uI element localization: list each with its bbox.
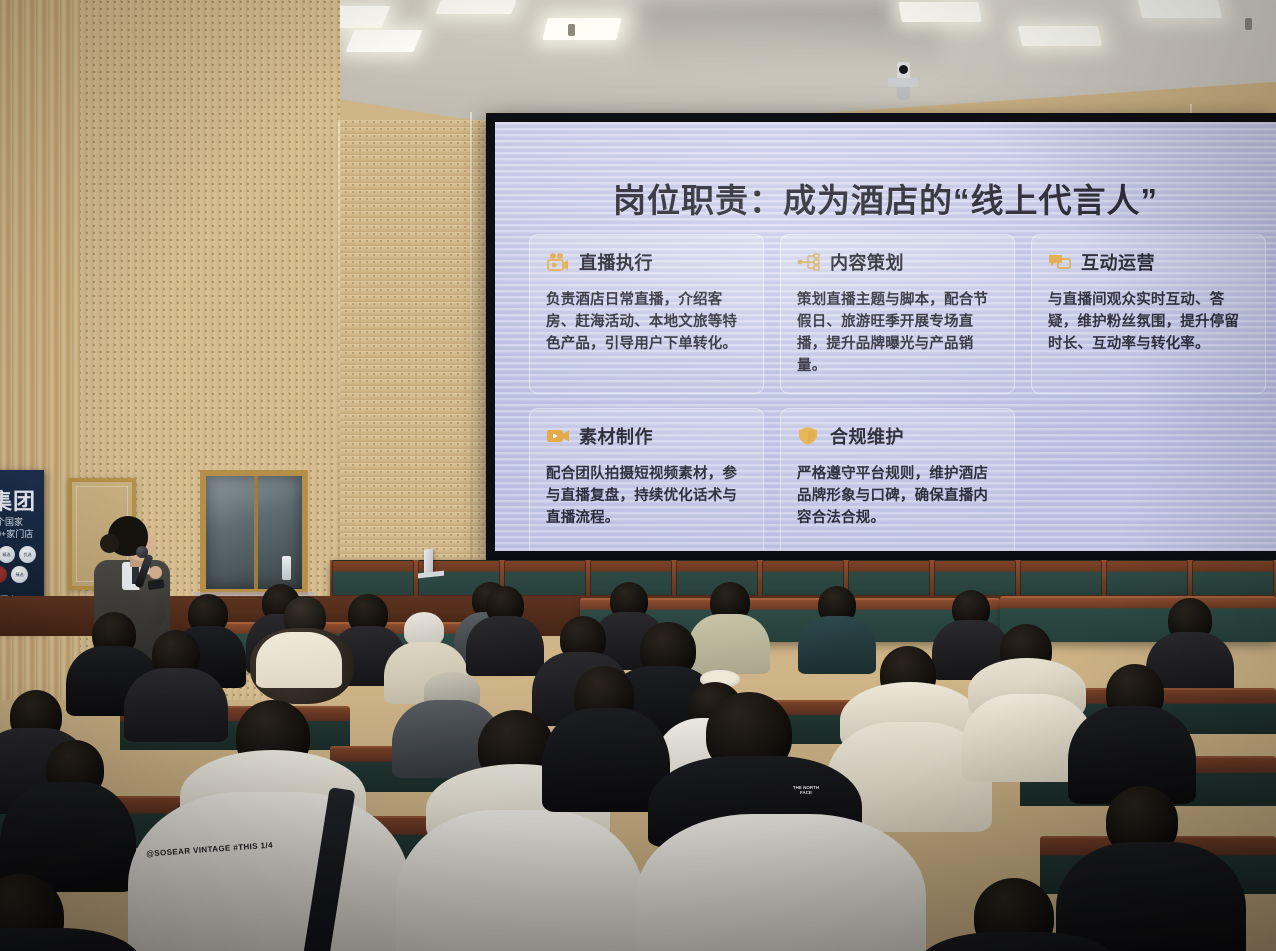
card-body: 配合团队拍摄短视频素材，参与直播复盘，持续优化话术与直播流程。 <box>546 463 747 529</box>
card-body: 负责酒店日常直播，介绍客房、赶海活动、本地文旅等特色产品，引导用户下单转化。 <box>546 289 747 355</box>
presenter-hair-bun <box>100 534 119 553</box>
audience-body <box>636 814 926 951</box>
card-title: 合规维护 <box>830 423 904 449</box>
card-title: 直播执行 <box>579 249 653 275</box>
slide-card: 互动运营 与直播间观众实时互动、答疑，维护粉丝氛围，提升停留时长、互动率与转化率… <box>1031 234 1266 394</box>
sitemap-icon <box>797 252 821 272</box>
banner-subtitle-line1: 20个国家 <box>0 516 23 528</box>
shield-icon <box>797 426 821 446</box>
audience-body <box>124 668 228 742</box>
projection-screen: 岗位职责：成为酒店的“线上代言人” <box>486 113 1276 560</box>
ceiling-light <box>542 18 621 40</box>
card-title: 内容策划 <box>830 249 904 275</box>
ceiling-light <box>898 2 982 22</box>
card-header: 直播执行 <box>546 249 747 275</box>
ceiling-light <box>1138 0 1222 18</box>
audience-body <box>466 616 544 676</box>
slide-card: 合规维护 严格遵守平台规则，维护酒店品牌形象与口碑，确保直播内容合法合规。 <box>780 408 1015 551</box>
audience-body <box>128 792 410 951</box>
microphone-head-icon <box>136 546 148 558</box>
card-body: 策划直播主题与脚本，配合节假日、旅游旺季开展专场直播，提升品牌曝光与产品销量。 <box>797 289 998 377</box>
audience-body <box>1056 842 1246 951</box>
slide-card: 内容策划 策划直播主题与脚本，配合节假日、旅游旺季开展专场直播，提升品牌曝光与产… <box>780 234 1015 394</box>
wall-seam <box>470 112 472 582</box>
video-play-icon <box>546 426 570 446</box>
audience-body <box>396 810 644 951</box>
ceiling-shadow <box>640 0 940 70</box>
card-body: 严格遵守平台规则，维护酒店品牌形象与口碑，确保直播内容合法合规。 <box>797 463 998 529</box>
card-title: 素材制作 <box>579 423 653 449</box>
slide-card: 直播执行 负责酒店日常直播，介绍客房、赶海活动、本地文旅等特色产品，引导用户下单… <box>529 234 764 394</box>
ceiling-light <box>346 30 423 52</box>
audience-body <box>798 616 876 674</box>
presentation-slide: 岗位职责：成为酒店的“线上代言人” <box>495 122 1276 551</box>
sprinkler-head <box>1245 18 1252 30</box>
audience-area: @SOSEAR VINTAGE #THIS 1/4 THE NORTH FACE <box>0 560 1276 951</box>
chat-bubbles-icon <box>1048 252 1072 272</box>
ceiling-light <box>1018 26 1102 46</box>
slide-card-grid: 直播执行 负责酒店日常直播，介绍客房、赶海活动、本地文旅等特色产品，引导用户下单… <box>529 234 1266 551</box>
banner-subtitle-line2: 000+家门店 <box>0 528 33 540</box>
audience-body <box>0 928 140 951</box>
video-camera-icon <box>546 252 570 272</box>
north-face-logo-patch: THE NORTH FACE <box>792 784 820 796</box>
sprinkler-head <box>568 24 575 36</box>
ceiling-light <box>435 0 516 14</box>
slide-card-empty <box>1031 408 1266 551</box>
card-body: 与直播间观众实时互动、答疑，维护粉丝氛围，提升停留时长、互动率与转化率。 <box>1048 289 1249 355</box>
slide-title: 岗位职责：成为酒店的“线上代言人” <box>495 174 1276 222</box>
audience-body <box>688 614 770 674</box>
brand-patch-line2: FACE <box>800 790 812 795</box>
audience-helmet <box>404 612 444 646</box>
card-header: 内容策划 <box>797 249 998 275</box>
banner-title: 集团 <box>0 484 36 516</box>
slide-card: 素材制作 配合团队拍摄短视频素材，参与直播复盘，持续优化话术与直播流程。 <box>529 408 764 551</box>
card-header: 互动运营 <box>1048 249 1249 275</box>
room-background: 集团 20个国家 000+家门店 精选 优选 臻选 站酒店 岗位职责：成为酒 <box>0 0 1276 951</box>
wall-seam <box>338 120 340 590</box>
ptz-camera-icon <box>888 62 918 108</box>
audience-body <box>256 632 342 688</box>
card-header: 合规维护 <box>797 423 998 449</box>
card-title: 互动运营 <box>1081 249 1155 275</box>
auditorium-scene: 集团 20个国家 000+家门店 精选 优选 臻选 站酒店 岗位职责：成为酒 <box>0 0 1276 951</box>
card-header: 素材制作 <box>546 423 747 449</box>
